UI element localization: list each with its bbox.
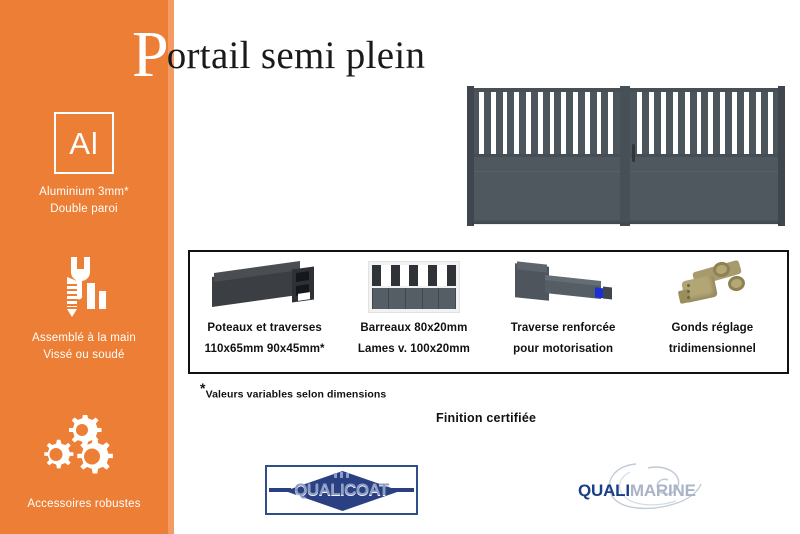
qualimarine-logo: QUALIMARINE <box>570 462 710 514</box>
gate-post-left <box>467 86 474 226</box>
finish-label: Finition certifiée <box>436 411 536 425</box>
feature-assembly-line1: Assemblé à la main <box>0 330 168 347</box>
feature-aluminium: Al Aluminium 3mm* Double paroi <box>0 112 168 218</box>
title-drop-cap: P <box>132 24 169 86</box>
component-label-line1: Barreaux 80x20mm <box>360 320 467 336</box>
gate-post-right <box>778 86 785 226</box>
qualimarine-logo-text: QUALIMARINE <box>578 481 696 501</box>
qualimarine-text-part2: MARINE <box>630 481 696 500</box>
components-box: Poteaux et traverses 110x65mm 90x45mm* B… <box>188 250 789 374</box>
feature-aluminium-line1: Aluminium 3mm* <box>0 184 168 201</box>
gate-leaf-left <box>468 88 624 224</box>
qualicoat-logo-text: QUALICOAT <box>267 480 416 500</box>
wrench-screw-icon <box>0 255 168 324</box>
feature-accessories: Accessoires robustes <box>0 415 168 513</box>
gate-panel-left <box>472 154 620 220</box>
feature-aluminium-line2: Double paroi <box>0 201 168 218</box>
gate-leaf-right <box>626 88 784 224</box>
feature-accessories-line1: Accessoires robustes <box>0 496 168 513</box>
component-label-line2: pour motorisation <box>513 341 613 357</box>
title-text: ortail semi plein <box>167 34 426 78</box>
qualimarine-text-part1: QUALI <box>578 481 630 500</box>
gate-bars-right <box>630 92 780 154</box>
component-hinges: Gonds réglage tridimensionnel <box>638 252 787 372</box>
product-image-gate <box>468 88 784 224</box>
gate-panel-right <box>630 154 780 220</box>
page-title: P ortail semi plein <box>132 18 427 84</box>
gears-icon <box>0 415 168 490</box>
component-posts-crossbars: Poteaux et traverses 110x65mm 90x45mm* <box>190 252 339 372</box>
component-label-line2: 110x65mm 90x45mm* <box>205 341 325 357</box>
feature-assembly-line2: Vissé ou soudé <box>0 347 168 364</box>
aluminium-symbol-text: Al <box>69 128 99 159</box>
component-label-line1: Poteaux et traverses <box>207 320 322 336</box>
qualicoat-logo: QUALICOAT <box>265 465 418 515</box>
gate-ground-shadow <box>472 222 780 225</box>
gate-center-post <box>620 86 630 226</box>
component-label-line1: Gonds réglage <box>671 320 753 336</box>
product-spec-sheet: Al Aluminium 3mm* Double paroi <box>0 0 800 534</box>
component-label-line2: Lames v. 100x20mm <box>358 341 470 357</box>
hinge-icon <box>638 257 787 319</box>
reinforced-crossbar-icon <box>489 257 638 319</box>
gate-handle-icon <box>632 144 635 162</box>
gate-bars-left <box>472 92 620 154</box>
aluminium-profile-icon <box>190 257 339 319</box>
component-label-line1: Traverse renforcée <box>511 320 616 336</box>
feature-assembly: Assemblé à la main Vissé ou soudé <box>0 255 168 364</box>
qualicoat-crown-icon <box>334 472 350 478</box>
footnote-text: Valeurs variables selon dimensions <box>206 389 387 401</box>
component-reinforced-crossbar: Traverse renforcée pour motorisation <box>489 252 638 372</box>
footnote: *Valeurs variables selon dimensions <box>200 380 386 401</box>
component-label-line2: tridimensionnel <box>669 341 756 357</box>
bars-slats-sample-icon <box>339 257 488 319</box>
component-bars-slats: Barreaux 80x20mm Lames v. 100x20mm <box>339 252 488 372</box>
aluminium-square-icon: Al <box>54 112 114 174</box>
